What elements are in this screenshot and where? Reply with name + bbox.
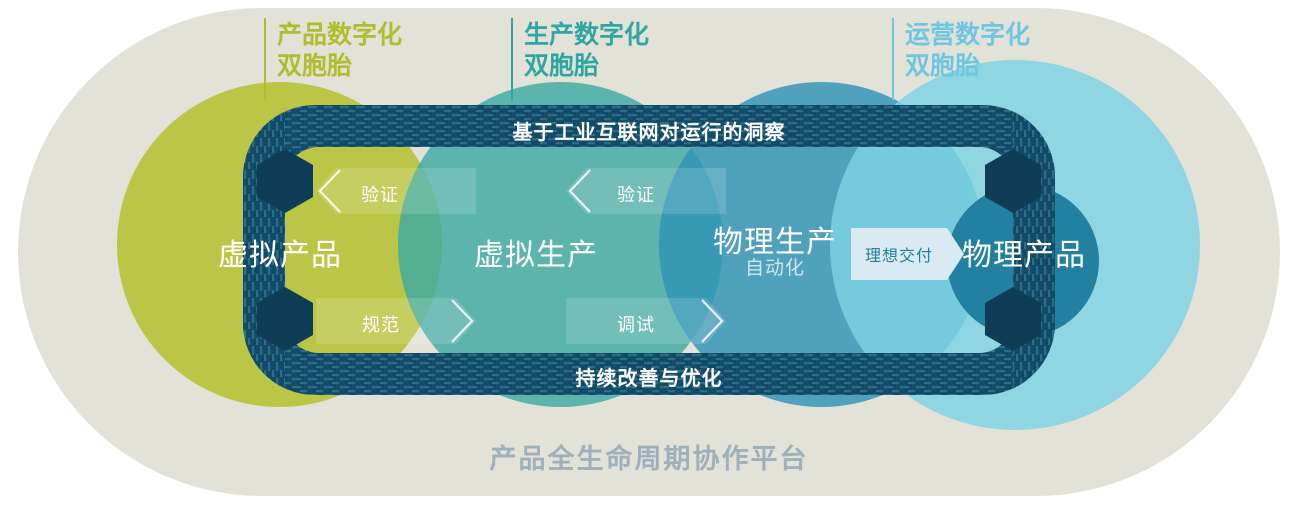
callout-product-line1: 产品数字化 [277, 20, 402, 51]
diagram-canvas: 基于工业互联网对运行的洞察 持续改善与优化 验证 验证 规范 调试 理想交付 虚… [0, 0, 1298, 509]
delivery-callout: 理想交付 [851, 228, 947, 280]
callout-production-line2: 双胞胎 [524, 51, 649, 82]
diagram-caption: 产品全生命周期协作平台 [0, 437, 1298, 476]
callout-product-line2: 双胞胎 [277, 51, 402, 82]
stage-sublabel-automation: 自动化 [690, 253, 860, 280]
callout-tick-production [511, 18, 513, 100]
arrow-verify-1-label: 验证 [361, 181, 399, 207]
delivery-callout-label: 理想交付 [865, 242, 933, 266]
callout-operations-line2: 双胞胎 [905, 51, 1030, 82]
arrow-commission-label: 调试 [617, 311, 655, 337]
arrow-specify-label: 规范 [362, 311, 400, 337]
callout-operations-digital-twin: 运营数字化 双胞胎 [905, 20, 1030, 82]
banner-top-text: 基于工业互联网对运行的洞察 [243, 116, 1055, 145]
stage-label-virtual-product: 虚拟产品 [180, 230, 380, 274]
callout-production-line1: 生产数字化 [524, 20, 649, 51]
banner-bottom-text: 持续改善与优化 [243, 362, 1055, 391]
callout-operations-line1: 运营数字化 [905, 20, 1030, 51]
stage-label-virtual-production: 虚拟生产 [441, 230, 631, 274]
callout-tick-operations [892, 18, 894, 100]
callout-product-digital-twin: 产品数字化 双胞胎 [277, 20, 402, 82]
callout-tick-product [264, 18, 266, 100]
callout-production-digital-twin: 生产数字化 双胞胎 [524, 20, 649, 82]
arrow-verify-2-label: 验证 [617, 181, 655, 207]
stage-label-physical-product: 物理产品 [948, 230, 1100, 274]
